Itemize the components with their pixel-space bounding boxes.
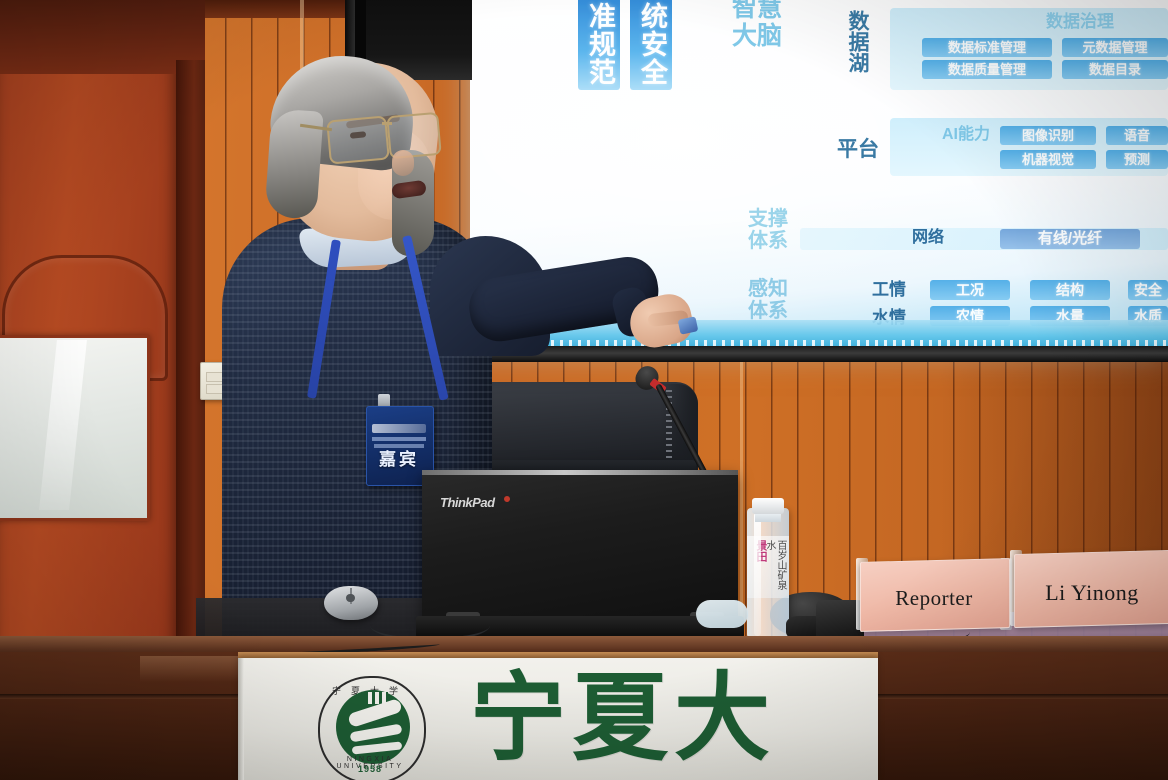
slide-item: 语音 (1106, 126, 1168, 145)
screen-bottom-frame (470, 346, 1168, 362)
door-frame-top (0, 0, 205, 74)
slide-row-label-platform: 平台 (835, 138, 881, 162)
slide-subrow-label-engineering: 工情 (866, 280, 912, 299)
slide-row-label-sensing: 感知体系 (740, 278, 796, 323)
slide-item: 数据标准管理 (922, 38, 1052, 57)
podium-side-edge (238, 658, 244, 780)
thinkpad-logo-dot-icon (504, 496, 510, 502)
slide-row-label-data-lake: 数据湖 (840, 10, 870, 73)
wall-panel-seam (740, 340, 743, 640)
university-seal-year: 1958 (318, 764, 422, 774)
slide-item: 结构 (1030, 280, 1110, 300)
badge-logo-icon (372, 424, 426, 433)
speaker-nose (392, 150, 414, 176)
slide-chip-standards: 准规范 (578, 0, 620, 90)
slide-item: 预测 (1106, 150, 1168, 169)
slide-item: 数据目录 (1062, 60, 1168, 79)
badge-text-line (374, 444, 424, 448)
nameplate-speaker-text: Li Yinong (1018, 580, 1166, 606)
badge-text-line (372, 437, 426, 441)
slide-row-label-support: 支撑体系 (740, 208, 796, 253)
slide-box-title-ai: AI能力 (938, 126, 994, 144)
mouse-scroll-wheel[interactable] (346, 594, 355, 602)
slide-item: 有线/光纤 (1000, 229, 1140, 249)
laptop-lid[interactable] (422, 470, 738, 624)
slide-item: 工况 (930, 280, 1010, 300)
slide-box-title-network: 网络 (900, 229, 956, 247)
slide-item: 机器视觉 (1000, 150, 1096, 169)
bottle-description-text: 百岁山矿泉水 (768, 540, 786, 592)
bottle-cap[interactable] (752, 498, 784, 514)
face-mask (696, 600, 748, 628)
eyeglasses-lens-left (326, 115, 390, 164)
slide-box-title-data-governance: 数据治理 (1020, 12, 1140, 31)
bottle-highlight (754, 512, 761, 636)
slide-item: 数据质量管理 (922, 60, 1052, 79)
presentation-photo: 准规范 统安全 智慧 大脑 数据湖 数据治理 数据标准管理 数据质量管理 元数据… (0, 0, 1168, 780)
slide-label-brain: 智慧 大脑 (722, 0, 792, 50)
slide-item: 图像识别 (1000, 126, 1096, 145)
nameplate-reporter-text: Reporter (862, 586, 1006, 611)
eyeglasses-bridge (382, 122, 392, 125)
slide-item: 安全 (1128, 280, 1168, 300)
laptop-lid-edge (422, 470, 738, 475)
badge-role-label: 嘉宾 (366, 450, 432, 470)
university-name-calligraphy: 宁夏大学 (470, 660, 870, 780)
slide-item: 元数据管理 (1062, 38, 1168, 57)
slide-chip-security: 统安全 (630, 0, 672, 90)
